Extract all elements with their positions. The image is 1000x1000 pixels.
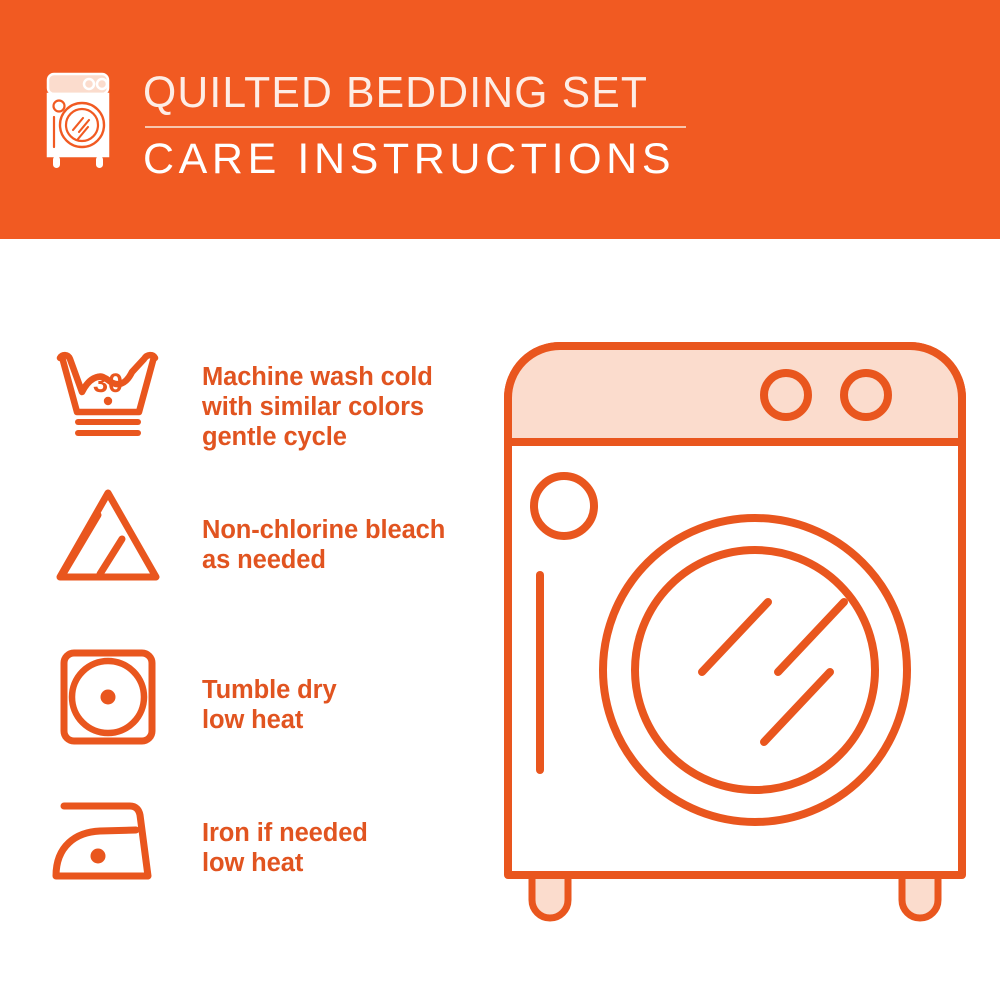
care-text-line: Iron if needed — [202, 818, 368, 848]
care-instruction-text-iron: Iron if needed low heat — [202, 818, 368, 878]
care-instruction-text-wash: Machine wash cold with similar colors ge… — [202, 362, 433, 452]
front-load-washing-machine-illustration — [490, 330, 970, 930]
care-instruction-row-tumble-dry: Tumble dry low heat — [0, 645, 500, 775]
title-divider — [145, 126, 686, 128]
care-text-line: Non-chlorine bleach — [202, 515, 445, 545]
care-text-line: with similar colors — [202, 392, 433, 422]
header-text-block: QUILTED BEDDING SET CARE INSTRUCTIONS — [143, 68, 703, 183]
care-instruction-text-tumble-dry: Tumble dry low heat — [202, 675, 337, 735]
page-subtitle: CARE INSTRUCTIONS — [143, 135, 703, 183]
knob-left — [764, 373, 808, 417]
page-title: QUILTED BEDDING SET — [143, 68, 686, 118]
care-instruction-row-iron: Iron if needed low heat — [0, 790, 500, 920]
care-instruction-text-bleach: Non-chlorine bleach as needed — [202, 515, 445, 575]
wash-temperature-label: 30 — [93, 368, 123, 398]
care-instructions-infographic: QUILTED BEDDING SET CARE INSTRUCTIONS 30… — [0, 0, 1000, 1000]
machine-wash-30-gentle-icon: 30 — [48, 340, 168, 450]
care-text-line: low heat — [202, 705, 337, 735]
care-text-line: low heat — [202, 848, 368, 878]
washing-machine-icon — [45, 72, 117, 174]
header-banner: QUILTED BEDDING SET CARE INSTRUCTIONS — [0, 0, 1000, 239]
iron-low-heat-icon — [48, 790, 168, 900]
tumble-dry-low-heat-icon — [48, 645, 168, 755]
control-panel — [508, 346, 962, 442]
care-instruction-row-bleach: Non-chlorine bleach as needed — [0, 485, 500, 615]
care-text-line: Tumble dry — [202, 675, 337, 705]
knob-right — [844, 373, 888, 417]
care-text-line: Machine wash cold — [202, 362, 433, 392]
care-instruction-row-wash: 30 Machine wash cold with similar colors… — [0, 340, 500, 470]
care-text-line: gentle cycle — [202, 422, 433, 452]
care-text-line: as needed — [202, 545, 445, 575]
non-chlorine-bleach-triangle-icon — [48, 485, 168, 595]
